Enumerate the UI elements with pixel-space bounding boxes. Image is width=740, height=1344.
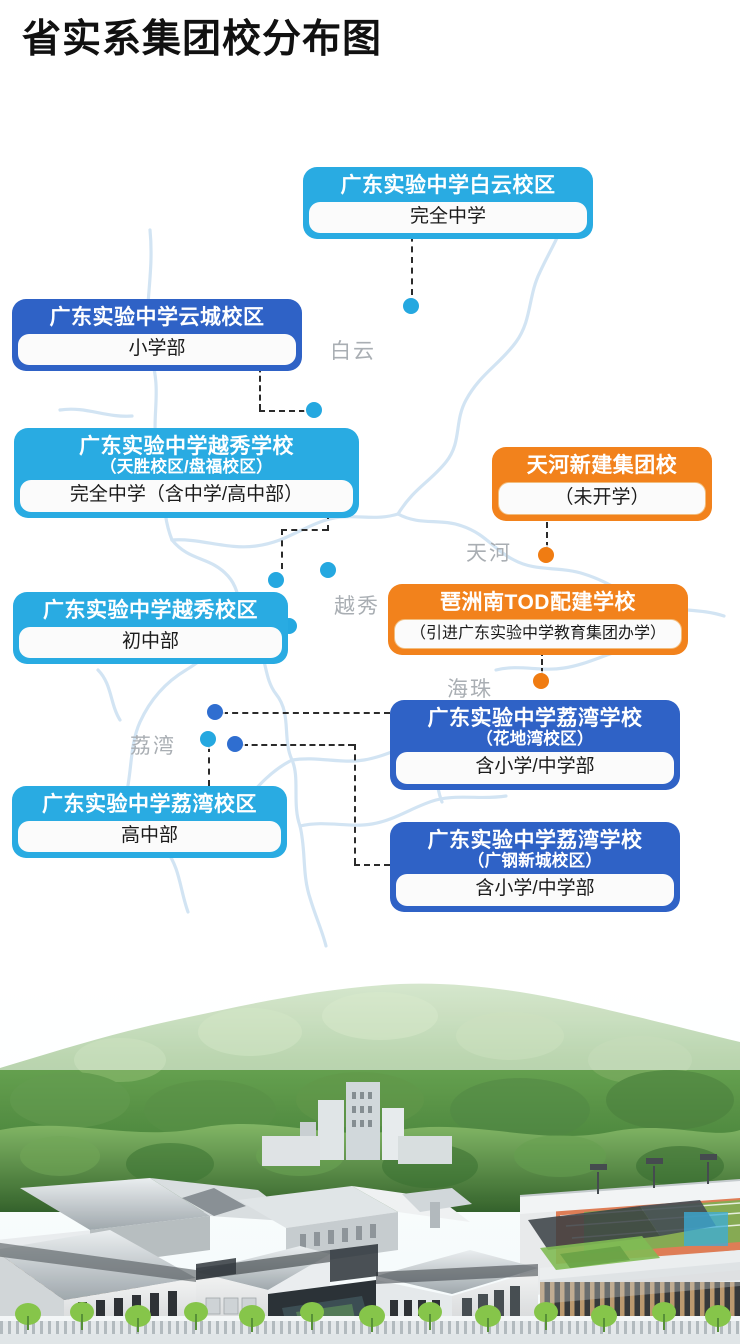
callout-detail: 初中部 — [19, 627, 282, 659]
callout-head: 广东实验中学云城校区 — [18, 304, 296, 334]
callout-detail: 含小学/中学部 — [396, 752, 674, 784]
map-marker-guanggang[interactable] — [227, 736, 243, 752]
district-label-tianhe: 天河 — [466, 537, 512, 567]
callout-head: 广东实验中学越秀学校 （天胜校区/盘福校区） — [20, 433, 353, 480]
callout-title: 广东实验中学越秀学校 — [26, 435, 347, 459]
district-label-baiyun: 白云 — [330, 335, 376, 365]
callout-head: 广东实验中学荔湾学校 （花地湾校区） — [396, 705, 674, 752]
callout-subtitle: （广钢新城校区） — [402, 852, 668, 870]
callout-head: 琶洲南TOD配建学校 — [394, 589, 682, 619]
district-map: 白云 天河 越秀 海珠 荔湾 — [0, 110, 740, 950]
district-label-liwan: 荔湾 — [130, 730, 176, 760]
connector-yuncheng-horizontal — [259, 410, 305, 412]
callout-detail: 完全中学（含中学/高中部） — [20, 480, 353, 512]
callout-card-liwan-campus[interactable]: 广东实验中学荔湾校区 高中部 — [12, 786, 287, 858]
map-marker-tianhe[interactable] — [538, 547, 554, 563]
map-marker-huadiwan[interactable] — [207, 704, 223, 720]
callout-head: 广东实验中学越秀校区 — [19, 597, 282, 627]
callout-card-yuexiu-campus[interactable]: 广东实验中学越秀校区 初中部 — [13, 592, 288, 664]
map-marker-yuexiu-school-a[interactable] — [268, 572, 284, 588]
callout-card-pazhou-tod[interactable]: 琶洲南TOD配建学校 （引进广东实验中学教育集团办学） — [388, 584, 688, 655]
callout-card-tianhe-new[interactable]: 天河新建集团校 （未开学） — [492, 447, 712, 521]
callout-detail: 高中部 — [18, 821, 281, 853]
callout-title: 天河新建集团校 — [504, 454, 700, 478]
district-label-yuexiu: 越秀 — [334, 590, 380, 620]
callout-detail: （引进广东实验中学教育集团办学） — [394, 619, 682, 649]
callout-title: 广东实验中学荔湾学校 — [402, 829, 668, 853]
callout-head: 广东实验中学荔湾校区 — [18, 791, 281, 821]
callout-head: 广东实验中学荔湾学校 （广钢新城校区） — [396, 827, 674, 874]
campus-aerial-photo — [0, 950, 740, 1344]
map-marker-yuncheng[interactable] — [306, 402, 322, 418]
callout-detail: （未开学） — [498, 482, 706, 516]
map-marker-liwan-campus[interactable] — [200, 731, 216, 747]
connector-liwan-campus — [208, 746, 210, 786]
map-marker-yuexiu-school-b[interactable] — [320, 562, 336, 578]
page-title: 省实系集团校分布图 — [22, 18, 382, 63]
connector-guanggang-v — [354, 744, 356, 864]
connector-yuexiu-school-horizontal — [281, 529, 328, 531]
callout-title: 琶洲南TOD配建学校 — [400, 591, 676, 615]
connector-guanggang-h1 — [242, 744, 354, 746]
callout-card-yuncheng[interactable]: 广东实验中学云城校区 小学部 — [12, 299, 302, 371]
callout-detail: 含小学/中学部 — [396, 874, 674, 906]
callout-subtitle: （花地湾校区） — [402, 730, 668, 748]
connector-huadiwan — [222, 712, 390, 714]
callout-subtitle: （天胜校区/盘福校区） — [26, 458, 347, 476]
callout-title: 广东实验中学云城校区 — [24, 306, 290, 330]
callout-head: 广东实验中学白云校区 — [309, 172, 587, 202]
photo-illustration — [0, 950, 740, 1344]
connector-yuexiu-school-v1 — [281, 529, 283, 569]
callout-card-yuexiu-school[interactable]: 广东实验中学越秀学校 （天胜校区/盘福校区） 完全中学（含中学/高中部） — [14, 428, 359, 518]
callout-card-liwan-guanggang[interactable]: 广东实验中学荔湾学校 （广钢新城校区） 含小学/中学部 — [390, 822, 680, 912]
infographic-page: 省实系集团校分布图 — [0, 0, 740, 1344]
callout-head: 天河新建集团校 — [498, 452, 706, 482]
map-marker-baiyun[interactable] — [403, 298, 419, 314]
callout-card-baiyun[interactable]: 广东实验中学白云校区 完全中学 — [303, 167, 593, 239]
callout-title: 广东实验中学越秀校区 — [25, 599, 276, 623]
callout-title: 广东实验中学荔湾校区 — [24, 793, 275, 817]
callout-detail: 小学部 — [18, 334, 296, 366]
callout-detail: 完全中学 — [309, 202, 587, 234]
district-label-haizhu: 海珠 — [447, 673, 493, 703]
callout-title: 广东实验中学白云校区 — [315, 174, 581, 198]
callout-card-liwan-huadiwan[interactable]: 广东实验中学荔湾学校 （花地湾校区） 含小学/中学部 — [390, 700, 680, 790]
callout-title: 广东实验中学荔湾学校 — [402, 707, 668, 731]
map-marker-pazhou[interactable] — [533, 673, 549, 689]
connector-guanggang-h2 — [354, 864, 390, 866]
